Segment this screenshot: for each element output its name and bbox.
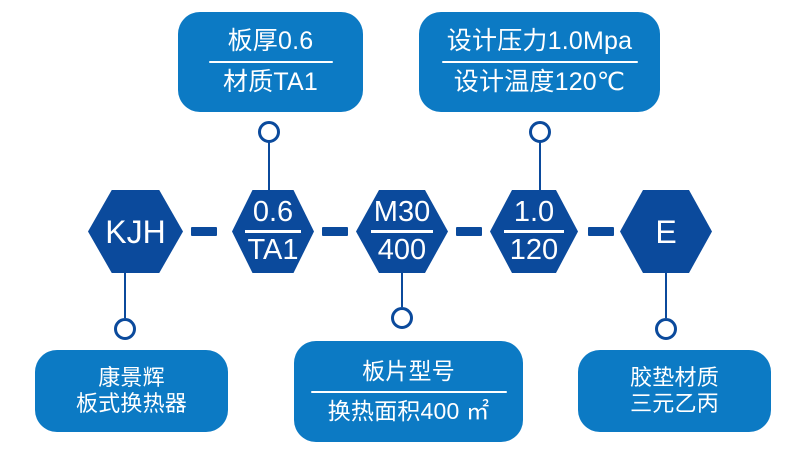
hexagon-plate-model-divider: [371, 230, 433, 233]
hexagon-thickness-code-line1: 0.6: [253, 198, 293, 227]
callout-design-conditions: 设计压力1.0Mpa 设计温度120℃: [419, 12, 660, 112]
connector-ring-plate-model-desc: [391, 307, 413, 329]
callout-gasket-material: 胶垫材质 三元乙丙: [578, 350, 771, 432]
connector-ring-design-conditions: [529, 121, 551, 143]
connector-stem-brand-name: [124, 273, 126, 318]
callout-plate-model-desc: 板片型号 换热面积400 ㎡: [294, 341, 523, 442]
callout-plate-model-desc-line2: 换热面积400 ㎡: [328, 398, 490, 425]
connector-ring-brand-name: [114, 318, 136, 340]
callout-plate-thickness-line2: 材质TA1: [223, 68, 318, 98]
callout-design-conditions-divider: [442, 61, 638, 63]
callout-brand-name-line1: 康景辉: [98, 365, 165, 391]
hexagon-thickness-code: 0.6 TA1: [232, 190, 314, 273]
callout-plate-thickness: 板厚0.6 材质TA1: [178, 12, 363, 112]
callout-brand-name-line2: 板式换热器: [76, 391, 187, 417]
callout-design-conditions-line1: 设计压力1.0Mpa: [447, 27, 632, 57]
hexagon-pressure-temp: 1.0 120: [490, 190, 578, 273]
hexagon-pressure-temp-line2: 120: [510, 236, 558, 265]
connector-ring-gasket-material: [655, 318, 677, 340]
callout-plate-thickness-line1: 板厚0.6: [228, 27, 314, 57]
separator-dash-1: [191, 227, 217, 236]
hexagon-plate-model-line1: M30: [374, 198, 430, 227]
hexagon-pressure-temp-line1: 1.0: [514, 198, 554, 227]
callout-plate-model-desc-divider: [311, 391, 507, 393]
callout-gasket-material-line2: 三元乙丙: [630, 391, 719, 417]
callout-plate-thickness-divider: [209, 61, 333, 63]
hexagon-thickness-code-divider: [245, 230, 301, 233]
callout-brand-name: 康景辉 板式换热器: [35, 350, 228, 432]
hexagon-brand-code-line1: KJH: [105, 216, 165, 248]
hexagon-plate-model-line2: 400: [378, 236, 426, 265]
connector-ring-plate-thickness: [258, 121, 280, 143]
connector-stem-plate-thickness: [268, 142, 270, 190]
callout-design-conditions-line2: 设计温度120℃: [454, 68, 625, 98]
connector-stem-gasket-material: [665, 273, 667, 318]
callout-plate-model-desc-line1: 板片型号: [362, 358, 455, 385]
separator-dash-2: [322, 227, 348, 236]
diagram-canvas: 板厚0.6 材质TA1 设计压力1.0Mpa 设计温度120℃ KJH 0.6 …: [0, 0, 800, 460]
hexagon-gasket-code: E: [620, 190, 712, 273]
separator-dash-4: [588, 227, 614, 236]
hexagon-gasket-code-line1: E: [655, 216, 676, 248]
hexagon-brand-code: KJH: [88, 190, 183, 273]
separator-dash-3: [456, 227, 482, 236]
connector-stem-plate-model-desc: [401, 273, 403, 307]
hexagon-pressure-temp-divider: [504, 230, 564, 233]
callout-gasket-material-line1: 胶垫材质: [630, 365, 719, 391]
hexagon-plate-model: M30 400: [356, 190, 448, 273]
hexagon-thickness-code-line2: TA1: [247, 236, 298, 265]
connector-stem-design-conditions: [539, 142, 541, 190]
